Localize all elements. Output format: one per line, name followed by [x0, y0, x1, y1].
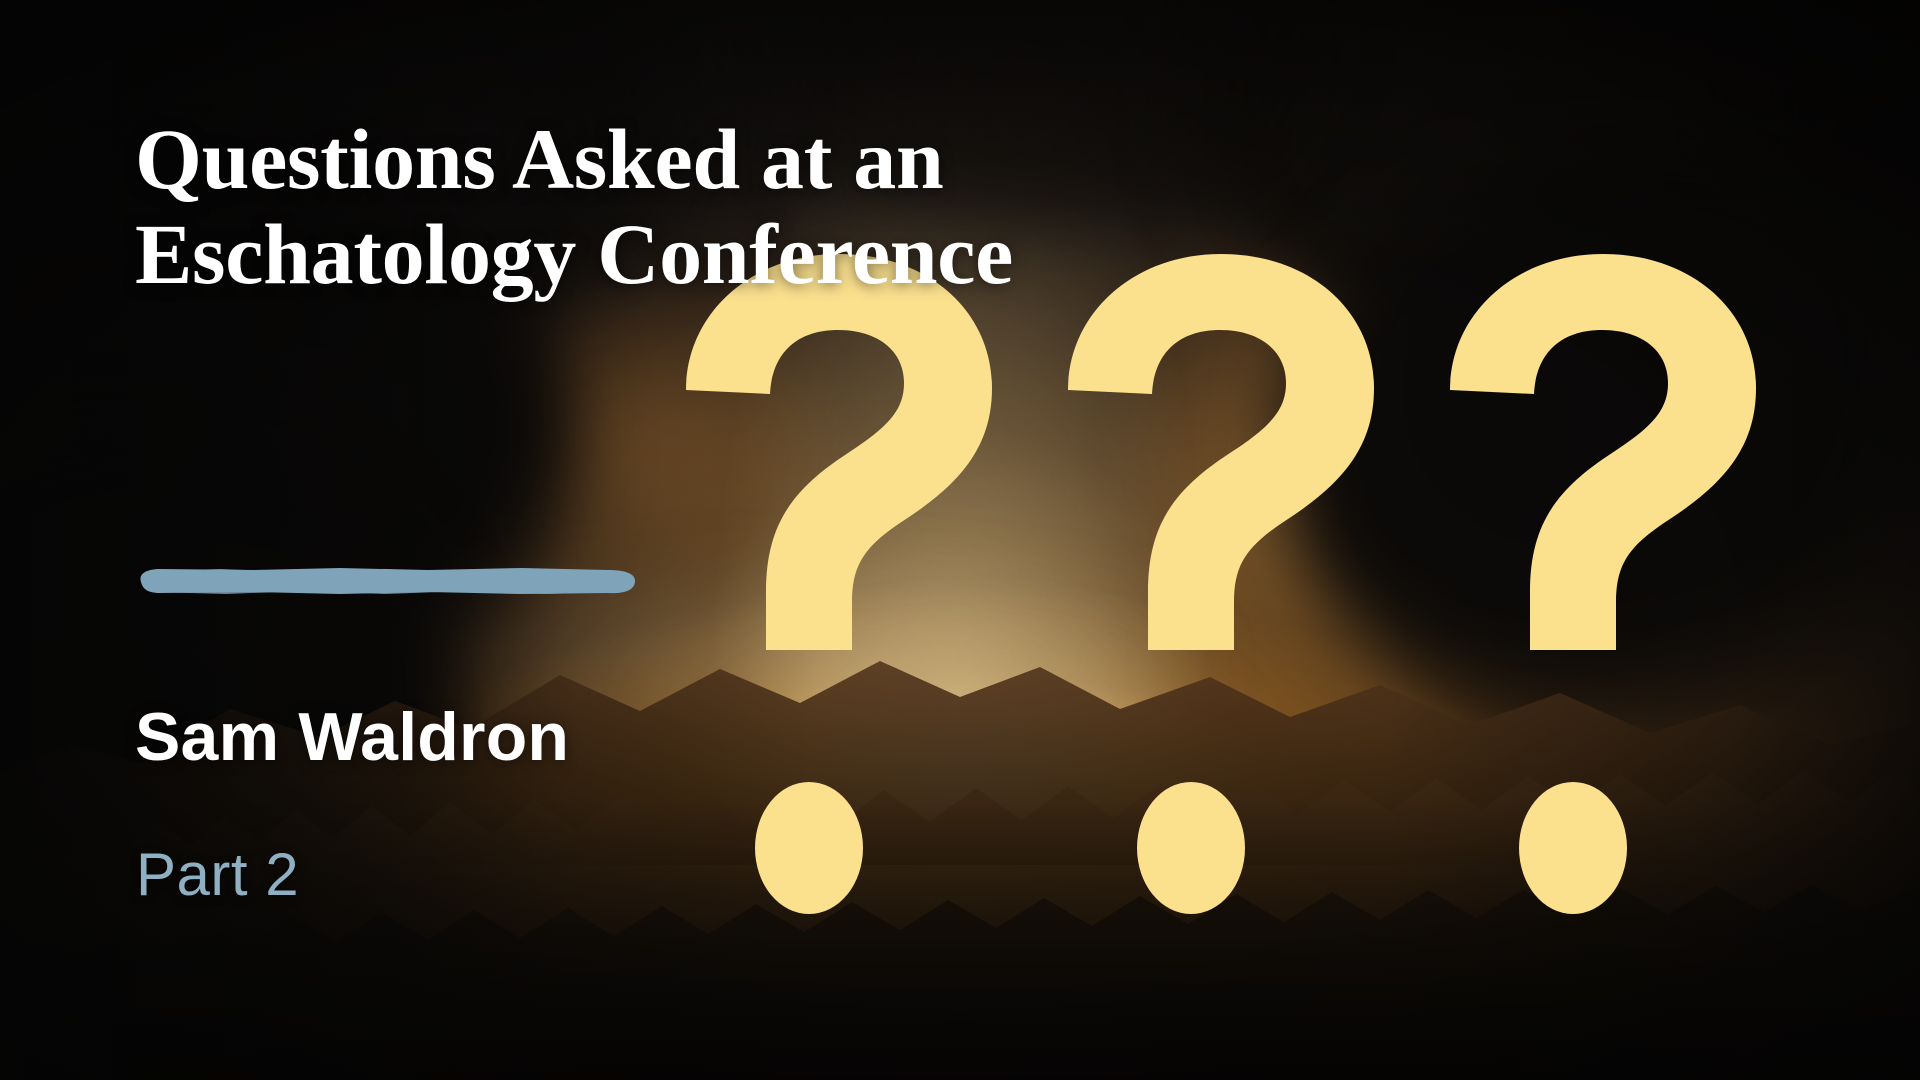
- part-label: Part 2: [136, 845, 299, 905]
- slide-title: Questions Asked at an Eschatology Confer…: [135, 112, 1075, 301]
- title-slide: Questions Asked at an Eschatology Confer…: [0, 0, 1920, 1080]
- speaker-name: Sam Waldron: [135, 703, 569, 771]
- brush-stroke-divider: [130, 566, 642, 596]
- slide-content: Questions Asked at an Eschatology Confer…: [0, 0, 1920, 1080]
- title-block: Questions Asked at an Eschatology Confer…: [135, 112, 1135, 301]
